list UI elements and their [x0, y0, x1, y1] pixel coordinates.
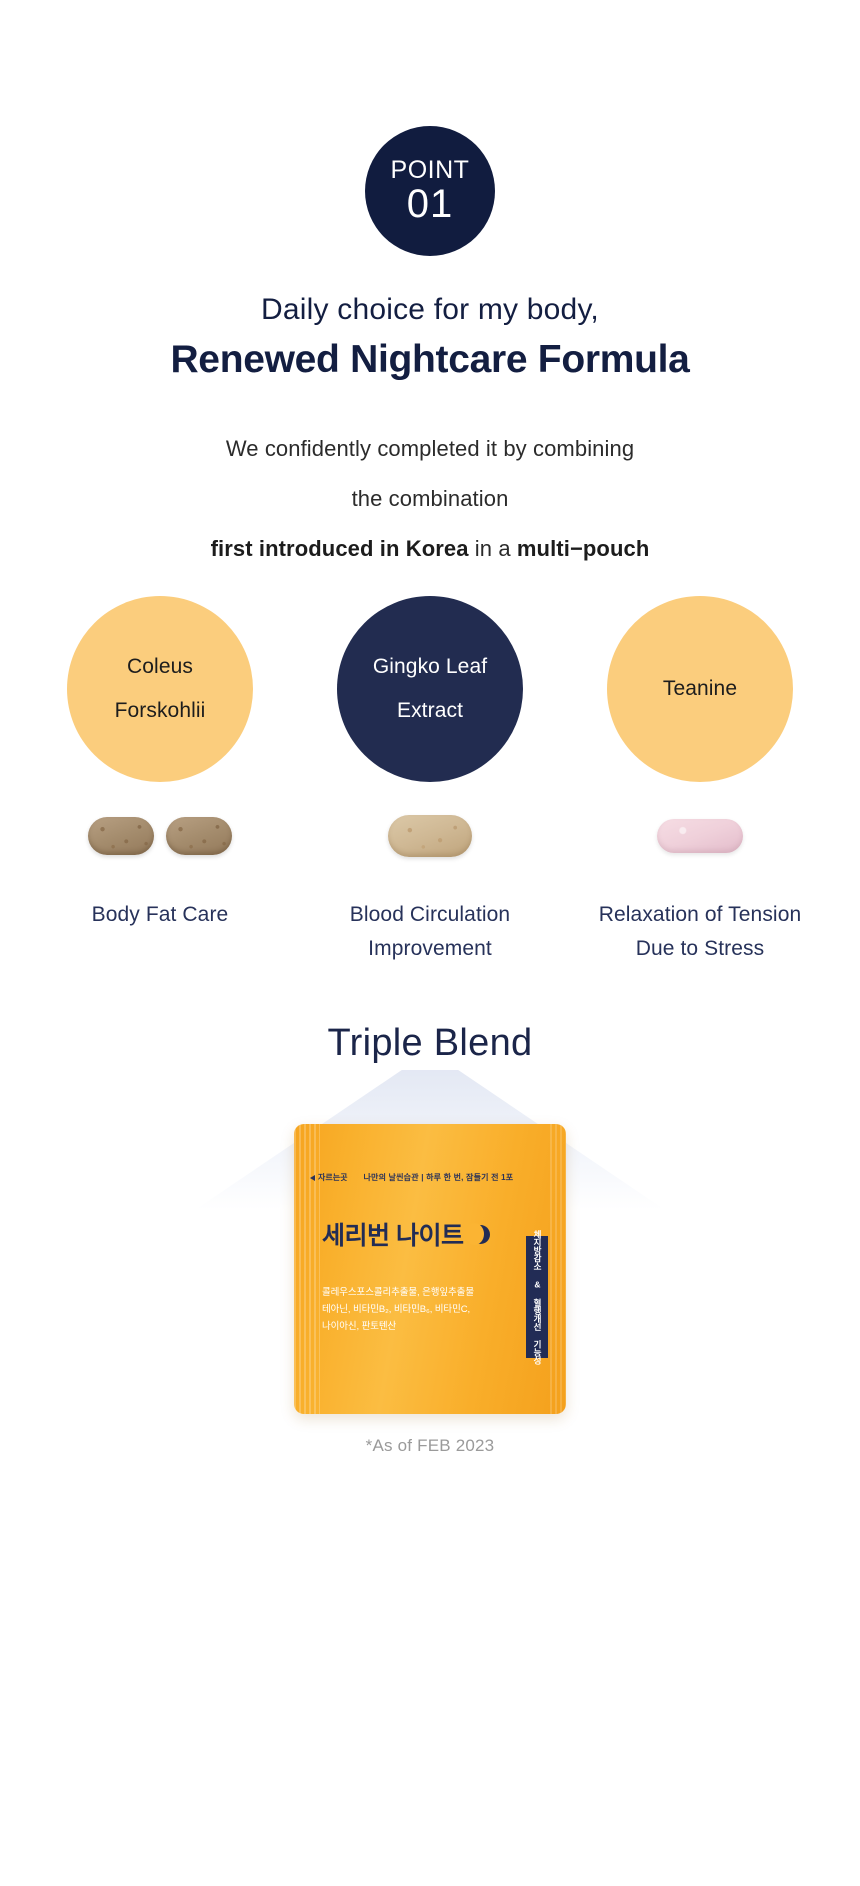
- page-title: Renewed Nightcare Formula: [0, 335, 860, 386]
- headline-block: Daily choice for my body, Renewed Nightc…: [0, 290, 860, 385]
- headline-subtitle: Daily choice for my body,: [0, 290, 860, 331]
- ingredient-circle-coleus: Coleus Forskohlii: [67, 596, 253, 782]
- triple-blend-heading: Triple Blend: [0, 1022, 860, 1065]
- crescent-moon-icon: [471, 1225, 490, 1244]
- ingredient-item-teanine: Teanine Relaxation of Tension Due to Str…: [590, 596, 810, 966]
- product-detail-page: POINT 01 Daily choice for my body, Renew…: [0, 0, 860, 1886]
- pill-row-coleus: [88, 800, 232, 872]
- pouch-top-row: 자르는곳 나만의 날씬습관 | 하루 한 번, 잠들기 전 1포: [310, 1172, 552, 1183]
- pouch-ingredient-line-2: 테아닌, 비타민B₂, 비타민B₆, 비타민C,: [322, 1301, 508, 1318]
- tablet-pink-icon: [657, 819, 743, 853]
- pouch-product-name: 세리번 나이트: [322, 1216, 463, 1252]
- ingredient-caption-teanine: Relaxation of Tension Due to Stress: [590, 898, 810, 966]
- cut-here-mark: 자르는곳: [310, 1172, 347, 1183]
- pouch-ingredient-line-1: 콜레우스포스콜리추출물, 은행잎추출물: [322, 1284, 508, 1301]
- tablet-brown-icon: [88, 817, 154, 855]
- pouch-product-name-row: 세리번 나이트: [322, 1216, 490, 1252]
- pouch-function-badge-text: 체지방감소 & 혈행개선 기능성: [532, 1230, 543, 1364]
- intro-line-1: We confidently completed it by combining: [0, 424, 860, 474]
- intro-paragraph: We confidently completed it by combining…: [0, 424, 860, 574]
- ingredient-name-line-2: Extract: [397, 689, 463, 733]
- intro-line-3-emphasis-a: first introduced in Korea: [211, 536, 469, 561]
- pouch-ingredient-list: 콜레우스포스콜리추출물, 은행잎추출물 테아닌, 비타민B₂, 비타민B₆, 비…: [322, 1284, 508, 1335]
- pill-row-gingko: [388, 800, 472, 872]
- intro-line-2: the combination: [0, 474, 860, 524]
- ingredient-item-coleus: Coleus Forskohlii Body Fat Care: [50, 596, 270, 932]
- intro-line-3: first introduced in Korea in a multi−pou…: [0, 524, 860, 574]
- pill-row-teanine: [657, 800, 743, 872]
- ingredient-name-line-1: Coleus: [127, 645, 193, 689]
- point-badge-number: 01: [407, 183, 454, 225]
- pouch-function-badge: 체지방감소 & 혈행개선 기능성: [526, 1236, 548, 1358]
- footnote: *As of FEB 2023: [0, 1436, 860, 1456]
- ingredient-list: Coleus Forskohlii Body Fat Care Gingko L…: [0, 596, 860, 966]
- point-badge: POINT 01: [365, 126, 495, 256]
- cut-here-label: 자르는곳: [318, 1172, 347, 1183]
- ingredient-circle-teanine: Teanine: [607, 596, 793, 782]
- ingredient-caption-gingko: Blood Circulation Improvement: [320, 898, 540, 966]
- ingredient-item-gingko: Gingko Leaf Extract Blood Circulation Im…: [320, 596, 540, 966]
- tablet-brown-icon: [166, 817, 232, 855]
- pouch-tagline: 나만의 날씬습관 | 하루 한 번, 잠들기 전 1포: [363, 1172, 513, 1183]
- pouch-ingredient-line-3: 나이아신, 판토텐산: [322, 1318, 508, 1335]
- ingredient-caption-coleus: Body Fat Care: [92, 898, 229, 932]
- ingredient-name-line-2: Forskohlii: [115, 689, 206, 733]
- tablet-tan-icon: [388, 815, 472, 857]
- intro-line-3-emphasis-b: multi−pouch: [517, 536, 650, 561]
- point-badge-word: POINT: [391, 157, 470, 183]
- intro-line-3-plain: in a: [469, 536, 517, 561]
- ingredient-name-line-1: Gingko Leaf: [373, 645, 487, 689]
- left-arrow-icon: [310, 1175, 315, 1181]
- product-pouch: 자르는곳 나만의 날씬습관 | 하루 한 번, 잠들기 전 1포 세리번 나이트…: [294, 1124, 566, 1414]
- pouch-front: 자르는곳 나만의 날씬습관 | 하루 한 번, 잠들기 전 1포 세리번 나이트…: [294, 1124, 566, 1414]
- ingredient-circle-gingko: Gingko Leaf Extract: [337, 596, 523, 782]
- ingredient-name-line-1: Teanine: [663, 667, 737, 711]
